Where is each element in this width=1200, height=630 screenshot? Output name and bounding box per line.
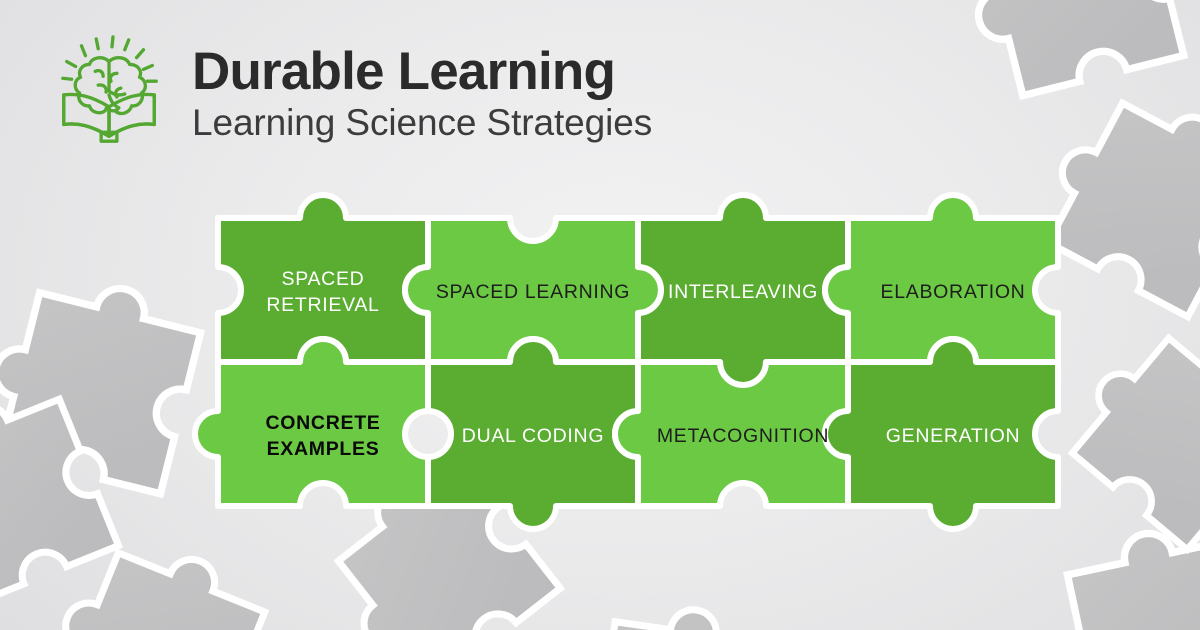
piece-label-elaboration: ELABORATION [881,281,1026,303]
page-header: Durable Learning Learning Science Strate… [52,34,652,152]
page-title: Durable Learning [192,44,652,99]
puzzle-grid: SPACED RETRIEVAL SPACED LEARNING INTERLE… [218,218,1058,506]
puzzle-piece-elaboration[interactable] [825,195,1058,362]
piece-label-concrete-examples-line1: CONCRETE [265,412,380,434]
piece-label-spaced-learning: SPACED LEARNING [436,281,630,303]
piece-label-interleaving: INTERLEAVING [668,281,818,303]
brain-book-icon [52,34,170,152]
puzzle-piece-icon [1055,307,1200,549]
puzzle-piece-icon [953,0,1183,101]
piece-label-spaced-retrieval-line2: RETRIEVAL [266,294,379,316]
page-subtitle: Learning Science Strategies [192,101,652,145]
piece-label-spaced-retrieval-line1: SPACED [282,268,365,290]
poster-canvas: Durable Learning Learning Science Strate… [0,0,1200,630]
piece-label-dual-coding: DUAL CODING [462,425,604,447]
piece-label-metacognition: METACOGNITION [657,425,829,447]
piece-label-concrete-examples-line2: EXAMPLES [267,438,380,460]
piece-label-generation: GENERATION [886,425,1020,447]
puzzle-piece-icon [570,596,774,630]
title-block: Durable Learning Learning Science Strate… [192,42,652,145]
